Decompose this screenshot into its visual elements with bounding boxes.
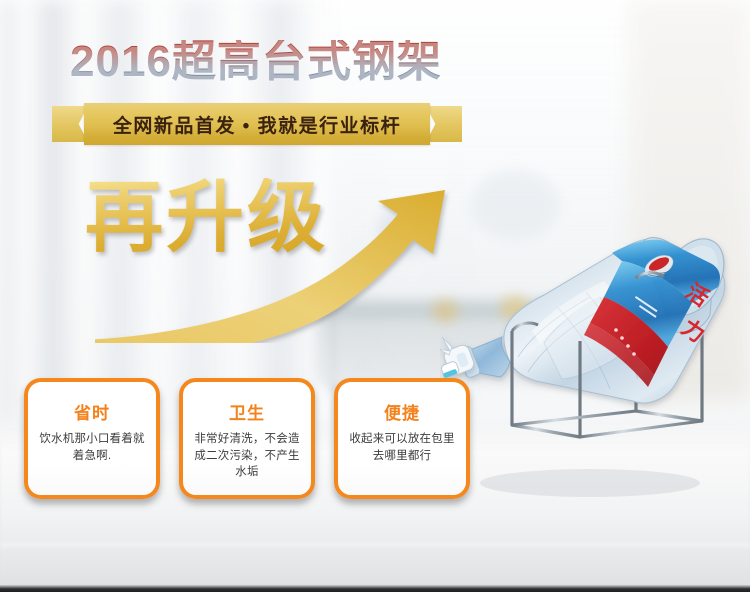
feature-title: 省时 bbox=[74, 399, 110, 424]
promo-slogan: 再升级 bbox=[85, 178, 328, 256]
feature-title: 便捷 bbox=[384, 399, 420, 424]
promo-banner-stage: 2016超高台式钢架 全网新品首发 • 我就是行业标杆 再升级 bbox=[0, 0, 750, 592]
page-title: 2016超高台式钢架 bbox=[70, 40, 442, 84]
background-counter-edge bbox=[0, 585, 750, 592]
ribbon-label: 全网新品首发 • 我就是行业标杆 bbox=[113, 111, 401, 138]
feature-list: 省时 饮水机那小口看着就着急啊. 卫生 非常好清洗，不会造成二次污染，不产生水垢… bbox=[24, 378, 470, 499]
ribbon-body: 全网新品首发 • 我就是行业标杆 bbox=[84, 103, 430, 145]
feature-body: 收起来可以放在包里去哪里都行 bbox=[338, 431, 466, 464]
feature-title: 卫生 bbox=[229, 399, 265, 424]
feature-body: 非常好清洗，不会造成二次污染，不产生水垢 bbox=[183, 431, 311, 481]
feature-card-1[interactable]: 省时 饮水机那小口看着就着急啊. bbox=[24, 378, 160, 499]
water-bottle: 活 力 bbox=[457, 228, 736, 403]
product-image-water-dispenser: 活 力 bbox=[440, 125, 750, 515]
background-blur-object bbox=[378, 206, 438, 256]
background-counter-highlight bbox=[0, 544, 750, 546]
ribbon-tail-left-icon bbox=[52, 106, 88, 142]
feature-card-3[interactable]: 便捷 收起来可以放在包里去哪里都行 bbox=[334, 378, 470, 499]
gold-ribbon: 全网新品首发 • 我就是行业标杆 bbox=[52, 103, 462, 145]
feature-card-2[interactable]: 卫生 非常好清洗，不会造成二次污染，不产生水垢 bbox=[179, 378, 315, 499]
feature-body: 饮水机那小口看着就着急啊. bbox=[28, 431, 156, 464]
